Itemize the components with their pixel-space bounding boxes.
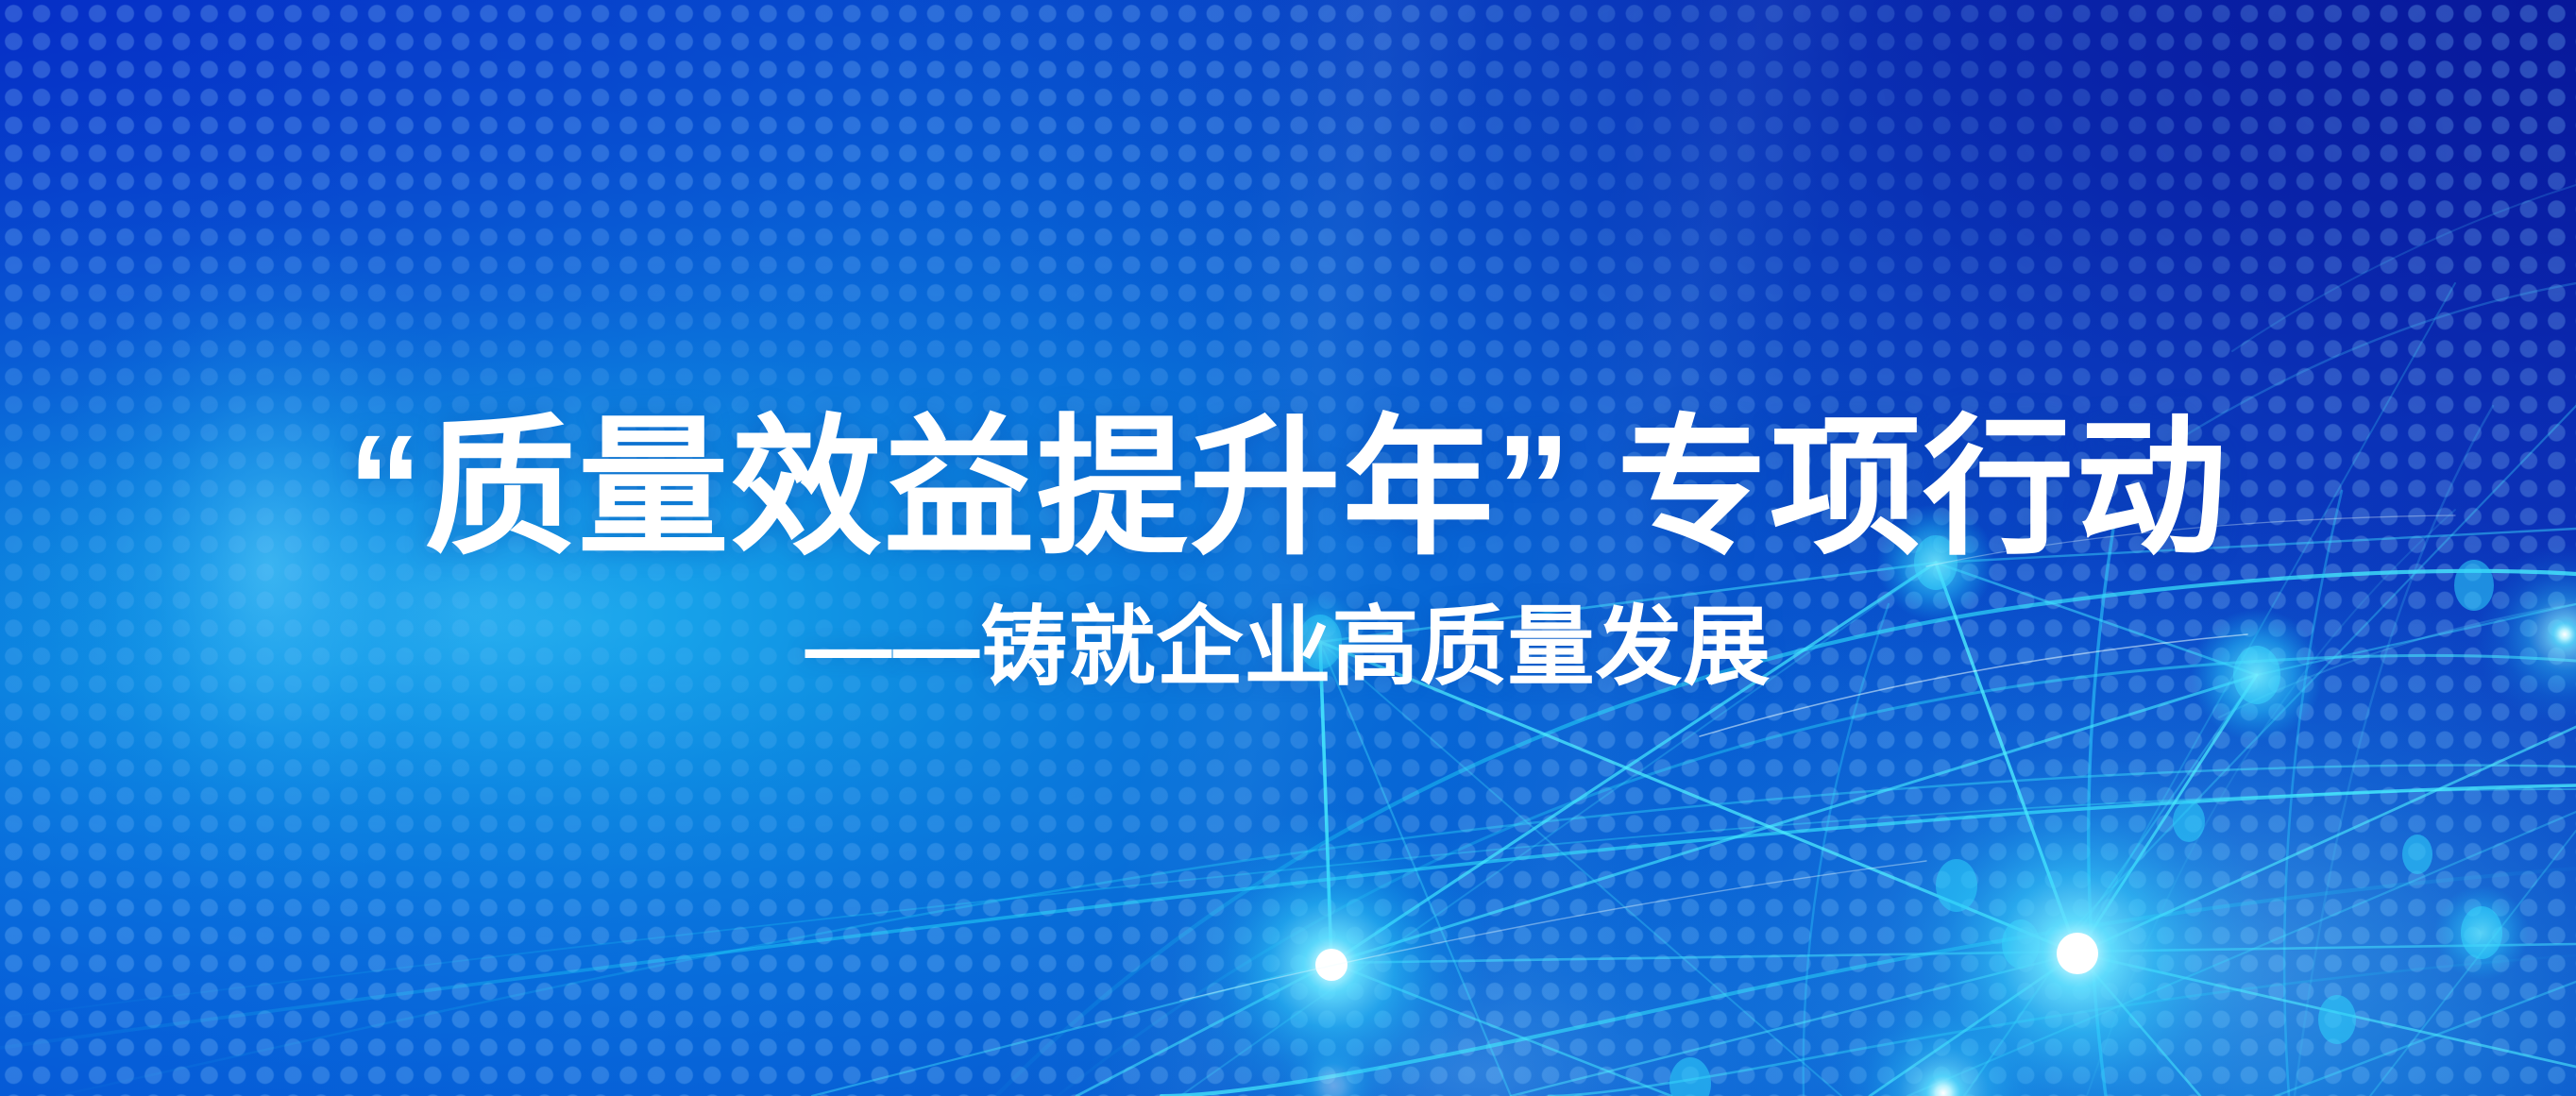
banner-text-block: “质量效益提升年” 专项行动 ——铸就企业高质量发展 bbox=[0, 410, 2576, 697]
banner-hero: “质量效益提升年” 专项行动 ——铸就企业高质量发展 bbox=[0, 0, 2576, 1096]
banner-headline: “质量效益提升年” 专项行动 bbox=[0, 410, 2576, 566]
banner-subline: ——铸就企业高质量发展 bbox=[0, 600, 2576, 696]
